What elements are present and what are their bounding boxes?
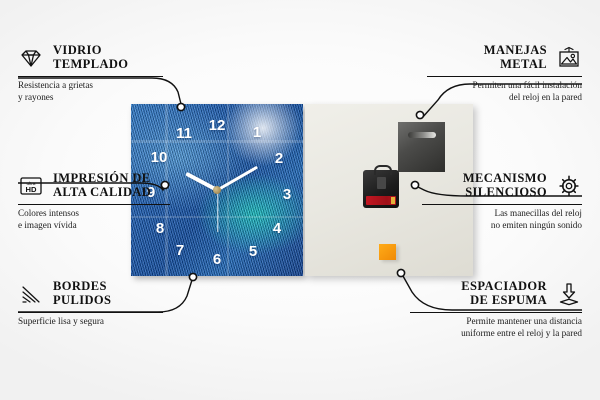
callout-divider <box>427 76 582 77</box>
product-infographic: 12 1 2 3 4 5 6 7 8 9 10 11 <box>0 0 600 400</box>
callout-vidrio-templado: VIDRIO TEMPLADO Resistencia a grietas y … <box>18 44 163 103</box>
callout-title: MECANISMO SILENCIOSO <box>463 172 547 199</box>
gear-icon <box>556 173 582 199</box>
callout-title: ESPACIADOR DE ESPUMA <box>461 280 547 307</box>
picture-hanger-icon <box>556 45 582 71</box>
callout-divider <box>422 204 582 205</box>
clock-numeral-2: 2 <box>270 151 288 166</box>
callout-divider <box>18 312 163 313</box>
clock-numeral-4: 4 <box>268 221 286 236</box>
callout-description: Permite mantener una distancia uniforme … <box>410 316 582 339</box>
metal-hanger-plate <box>398 122 445 172</box>
callout-divider <box>18 76 163 77</box>
callout-description: Colores intensos e imagen vívida <box>18 208 170 231</box>
clock-numeral-11: 11 <box>175 126 193 141</box>
callout-title: BORDES PULIDOS <box>53 280 111 307</box>
mechanism-shaft <box>377 177 386 189</box>
callout-divider <box>410 312 582 313</box>
clock-numeral-12: 12 <box>208 118 226 133</box>
clock-center-hub <box>213 186 221 194</box>
callout-description: Las manecillas del reloj no emiten ningú… <box>422 208 582 231</box>
clock-numeral-3: 3 <box>278 187 296 202</box>
battery-terminal <box>391 197 395 204</box>
hanger-slot <box>408 132 436 138</box>
polished-edges-icon <box>18 281 44 307</box>
clock-numeral-5: 5 <box>244 244 262 259</box>
clock-numeral-1: 1 <box>248 125 266 140</box>
clock-numeral-7: 7 <box>171 243 189 258</box>
clock-numeral-10: 10 <box>150 150 168 165</box>
clock-numeral-6: 6 <box>208 252 226 267</box>
callout-description: Superficie lisa y segura <box>18 316 163 328</box>
ultra-hd-icon: ultra HD <box>18 173 44 199</box>
callout-title: IMPRESIÓN DE ALTA CALIDAD <box>53 172 151 199</box>
diamond-icon <box>18 45 44 71</box>
callout-title: MANEJAS METAL <box>484 44 547 71</box>
foam-spacer-pad <box>379 244 396 260</box>
callout-title: VIDRIO TEMPLADO <box>53 44 128 71</box>
callout-bordes-pulidos: BORDES PULIDOS Superficie lisa y segura <box>18 280 163 328</box>
callout-description: Resistencia a grietas y rayones <box>18 80 163 103</box>
mechanism-hook <box>374 165 392 175</box>
callout-mecanismo-silencioso: MECANISMO SILENCIOSO Las manecillas del … <box>422 172 582 231</box>
callout-impresion-alta-calidad: ultra HD IMPRESIÓN DE ALTA CALIDAD Color… <box>18 172 170 231</box>
callout-manejas-metal: MANEJAS METAL Permiten una fácil instala… <box>427 44 582 103</box>
svg-text:HD: HD <box>26 185 37 194</box>
callout-description: Permiten una fácil instalación del reloj… <box>427 80 582 103</box>
foam-spacer-icon <box>556 281 582 307</box>
clock-second-hand <box>217 190 218 232</box>
callout-espaciador-espuma: ESPACIADOR DE ESPUMA Permite mantener un… <box>410 280 582 339</box>
clock-mechanism <box>363 170 399 208</box>
callout-divider <box>18 204 170 205</box>
